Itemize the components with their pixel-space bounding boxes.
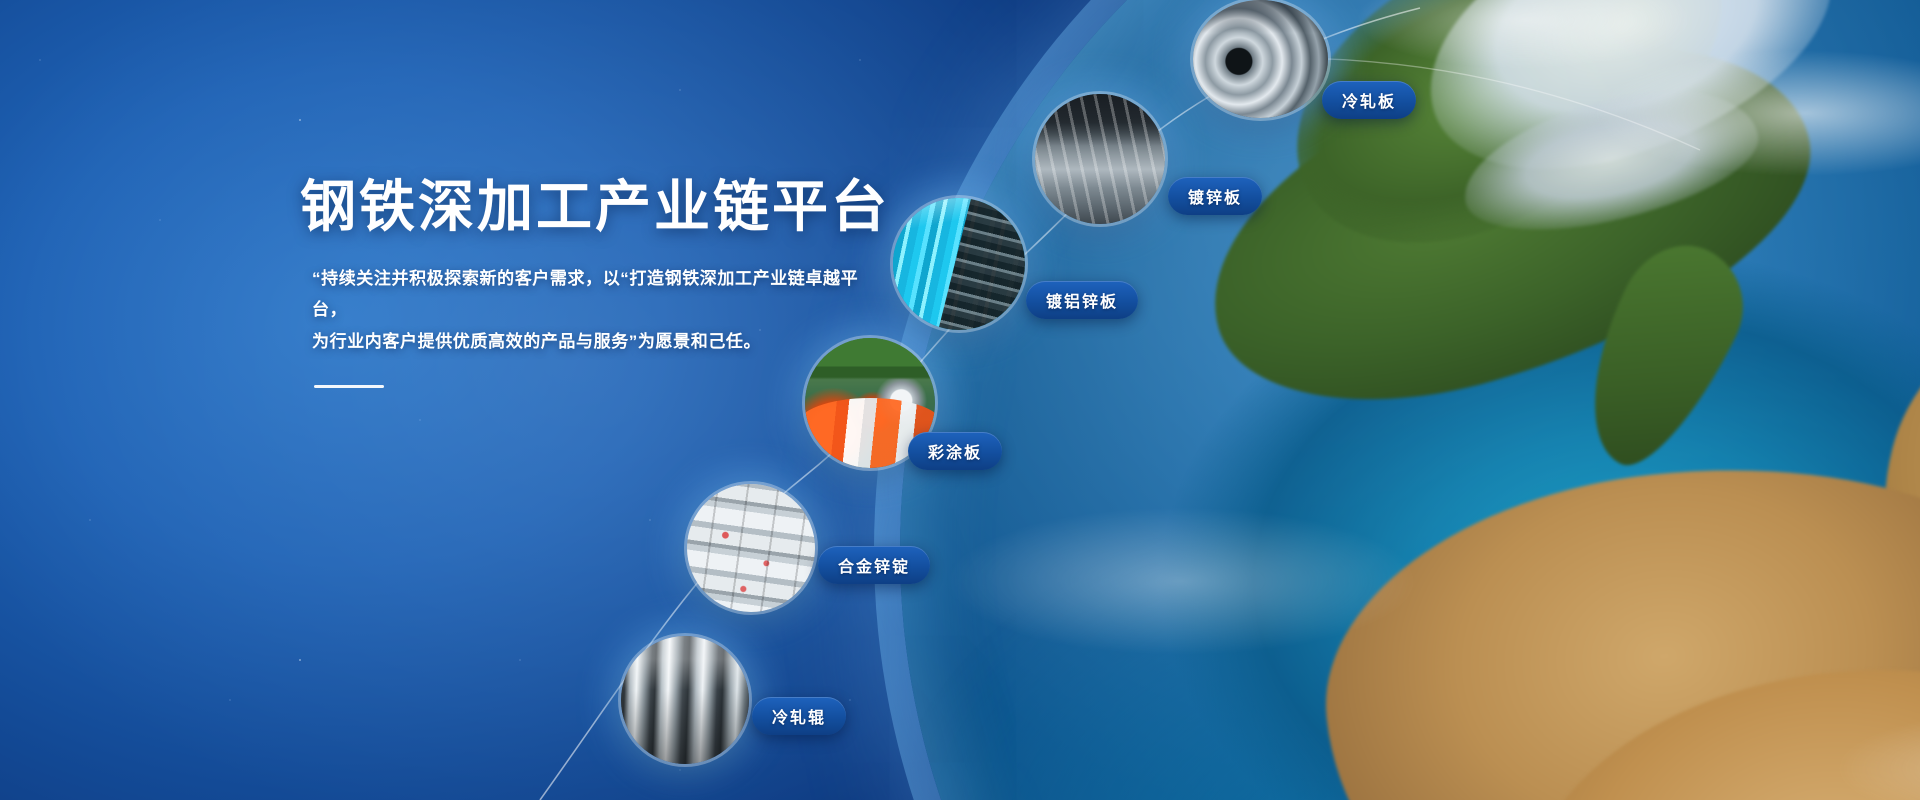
aluzinc-line-image[interactable] bbox=[893, 198, 1025, 330]
aluzinc-line-photo bbox=[893, 198, 1025, 330]
hero-subtitle-line-2: 为行业内客户提供优质高效的产品与服务”为愿景和己任。 bbox=[312, 332, 761, 351]
chain-label-zinc-alloy-ingot[interactable]: 合金锌锭 bbox=[818, 546, 930, 584]
chain-label-cold-roll[interactable]: 冷轧辊 bbox=[752, 697, 846, 735]
galvanized-warehouse-image[interactable] bbox=[1035, 94, 1165, 224]
title-divider bbox=[314, 385, 384, 388]
zinc-ingot-image[interactable] bbox=[687, 484, 815, 612]
hero-subtitle-line-1: “持续关注并积极探索新的客户需求，以“打造钢铁深加工产业链卓越平台， bbox=[312, 269, 858, 319]
cold-roll-image[interactable] bbox=[621, 636, 749, 764]
chain-label-aluzinc-sheet[interactable]: 镀铝锌板 bbox=[1026, 281, 1138, 319]
hero-subtitle: “持续关注并积极探索新的客户需求，以“打造钢铁深加工产业链卓越平台， 为行业内客… bbox=[312, 263, 882, 357]
hero-banner: 钢铁深加工产业链平台 “持续关注并积极探索新的客户需求，以“打造钢铁深加工产业链… bbox=[0, 0, 1920, 800]
cold-rolled-coil-photo bbox=[1193, 0, 1328, 118]
zinc-ingot-photo bbox=[687, 484, 815, 612]
chain-label-galvanized-sheet[interactable]: 镀锌板 bbox=[1168, 177, 1262, 215]
cold-roll-photo bbox=[621, 636, 749, 764]
chain-label-color-coated[interactable]: 彩涂板 bbox=[908, 432, 1002, 470]
chain-label-cold-rolled-sheet[interactable]: 冷轧板 bbox=[1322, 81, 1416, 119]
cold-rolled-coil-image[interactable] bbox=[1193, 0, 1328, 118]
galvanized-warehouse-photo bbox=[1035, 94, 1165, 224]
page-title: 钢铁深加工产业链平台 bbox=[300, 176, 940, 239]
